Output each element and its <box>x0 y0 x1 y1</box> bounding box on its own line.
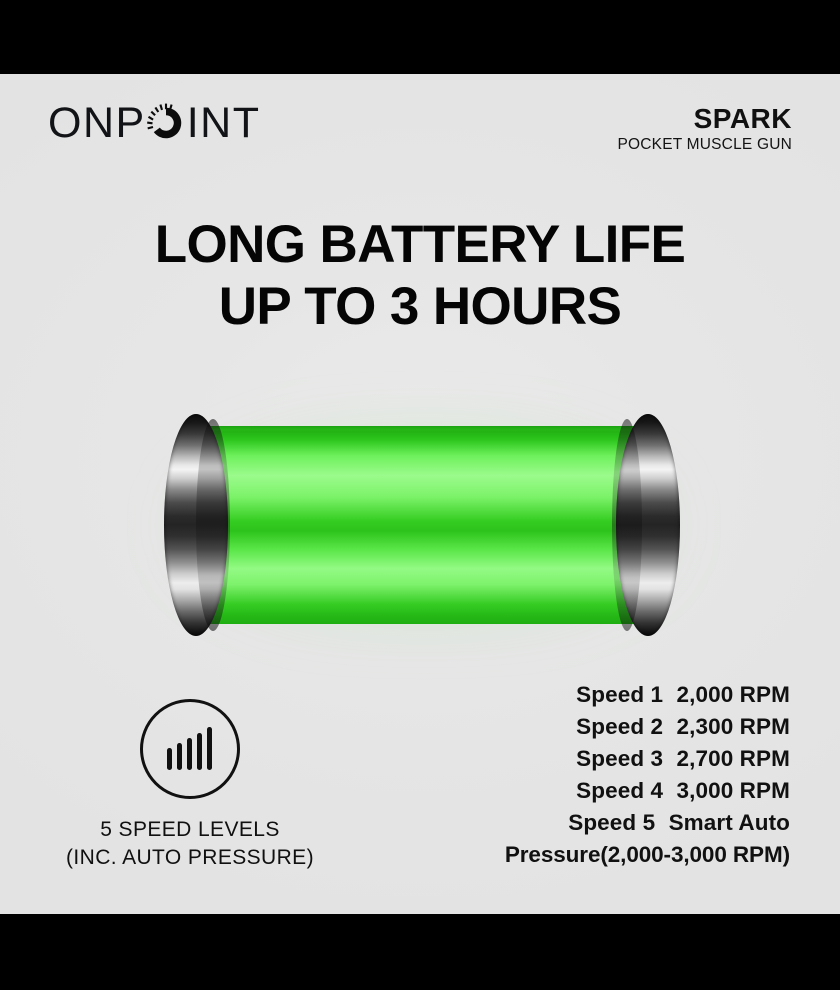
feature-label-line-1: 5 SPEED LEVELS <box>10 816 370 844</box>
poster-stage: ONP <box>0 74 840 914</box>
poster: ONP <box>0 0 840 990</box>
letterbox-bar-bottom <box>0 914 840 990</box>
speed-row: Speed 1 2,000 RPM <box>420 679 790 711</box>
brand-logo: ONP <box>48 100 260 146</box>
battery-cap-right <box>616 414 680 636</box>
headline-line-2: UP TO 3 HOURS <box>0 276 840 338</box>
speed-value: 2,300 RPM <box>677 714 790 739</box>
speed-row: Speed 5 Smart Auto <box>420 807 790 839</box>
product-name: SPARK <box>617 104 792 133</box>
feature-label: 5 SPEED LEVELS (INC. AUTO PRESSURE) <box>10 816 370 872</box>
product-subtitle: POCKET MUSCLE GUN <box>617 136 792 154</box>
speed-row: Speed 3 2,700 RPM <box>420 743 790 775</box>
speed-row: Speed 2 2,300 RPM <box>420 711 790 743</box>
circle-tick-icon <box>144 101 188 145</box>
battery-fill <box>198 426 648 624</box>
letterbox-bar-top <box>0 0 840 74</box>
product-identity: SPARK POCKET MUSCLE GUN <box>617 104 792 154</box>
signal-bars-icon <box>140 699 240 799</box>
speed-label: Speed 4 <box>576 778 663 803</box>
speed-value: 2,000 RPM <box>677 682 790 707</box>
speed-label: Speed 1 <box>576 682 663 707</box>
speed-value: 3,000 RPM <box>677 778 790 803</box>
speed-row: Speed 4 3,000 RPM <box>420 775 790 807</box>
speed-specs-list: Speed 1 2,000 RPM Speed 2 2,300 RPM Spee… <box>420 679 790 871</box>
brand-logo-text-right: INT <box>187 102 261 145</box>
speed-label: Speed 3 <box>576 746 663 771</box>
battery-cap-left <box>164 414 228 636</box>
battery-full-icon <box>150 394 695 654</box>
speed-value: 2,700 RPM <box>677 746 790 771</box>
headline-line-1: LONG BATTERY LIFE <box>0 214 840 276</box>
speed-value: Smart Auto <box>669 810 790 835</box>
speed-label: Speed 2 <box>576 714 663 739</box>
speed-levels-feature: 5 SPEED LEVELS (INC. AUTO PRESSURE) <box>10 699 370 872</box>
feature-label-line-2: (INC. AUTO PRESSURE) <box>10 844 370 872</box>
header: ONP <box>0 74 840 184</box>
brand-logo-text-left: ONP <box>48 102 146 145</box>
headline: LONG BATTERY LIFE UP TO 3 HOURS <box>0 214 840 338</box>
speed-value: Pressure(2,000-3,000 RPM) <box>505 842 790 867</box>
speed-label: Speed 5 <box>568 810 655 835</box>
speed-row: Pressure(2,000-3,000 RPM) <box>420 839 790 871</box>
